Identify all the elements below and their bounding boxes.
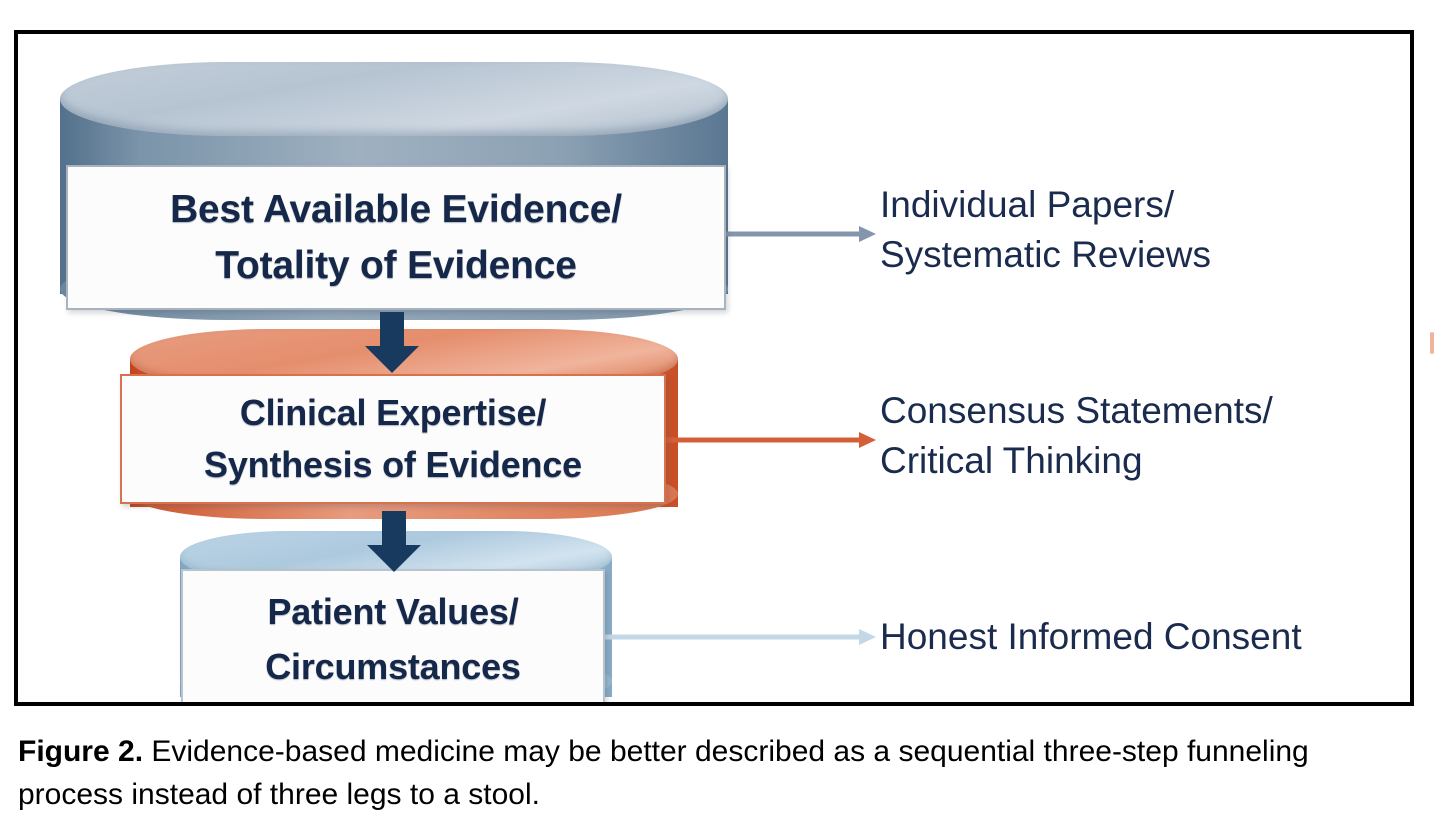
funnel-stage-1-top-ellipse [60, 62, 728, 136]
stage-1-outcome-label: Individual Papers/ Systematic Reviews [880, 180, 1211, 280]
down-arrow-icon-stage2-to-stage3 [363, 511, 425, 573]
stage-1-label-line-1: Best Available Evidence/ [170, 182, 622, 238]
stage-3-label-line-1: Patient Values/ [267, 584, 518, 639]
stage-3-label-box: Patient Values/ Circumstances [181, 569, 605, 706]
figure-caption-label: Figure 2. [18, 735, 143, 768]
stage-3-outcome-label: Honest Informed Consent [880, 612, 1302, 662]
stage-2-label-line-1: Clinical Expertise/ [240, 387, 546, 439]
figure-caption-text: Evidence-based medicine may be better de… [18, 735, 1309, 811]
connector-arrow-stage-2 [663, 428, 878, 452]
figure-frame: Best Available Evidence/ Totality of Evi… [14, 30, 1414, 706]
figure-caption: Figure 2. Evidence-based medicine may be… [18, 730, 1422, 816]
connector-arrow-stage-3 [598, 625, 878, 649]
scan-edge-artifact [1430, 332, 1434, 354]
stage-2-label-line-2: Synthesis of Evidence [204, 439, 582, 491]
stage-3-label-line-2: Circumstances [265, 639, 521, 694]
down-arrow-icon-stage1-to-stage2 [361, 312, 423, 374]
stage-1-label-box: Best Available Evidence/ Totality of Evi… [66, 165, 726, 310]
stage-1-label-line-2: Totality of Evidence [215, 238, 577, 294]
funnel-diagram: Best Available Evidence/ Totality of Evi… [18, 34, 1410, 702]
stage-2-label-box: Clinical Expertise/ Synthesis of Evidenc… [120, 374, 666, 504]
stage-2-outcome-label: Consensus Statements/ Critical Thinking [880, 386, 1273, 486]
connector-arrow-stage-1 [718, 222, 878, 246]
